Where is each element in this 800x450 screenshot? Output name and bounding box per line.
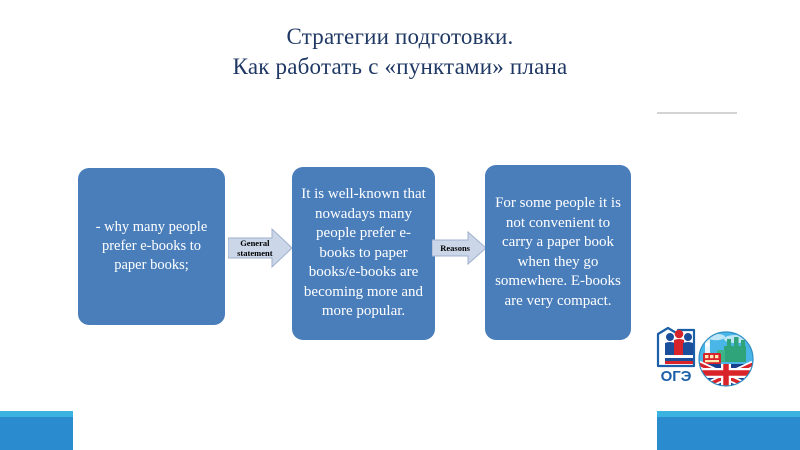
connector-general-statement: General statement — [228, 227, 292, 269]
flow-box-general-statement: It is well-known that nowadays many peop… — [292, 167, 435, 340]
flow-box-plan-point: - why many people prefer e-books to pape… — [78, 168, 225, 325]
page-title: Стратегии подготовки. Как работать с «пу… — [120, 22, 680, 82]
oge-english-logo: ОГЭ — [648, 326, 756, 392]
oge-english-logo-icon: ОГЭ — [648, 326, 756, 392]
slide: Стратегии подготовки. Как работать с «пу… — [0, 0, 800, 450]
decorative-rule — [657, 112, 737, 114]
flow-box-reasons: For some people it is not convenient to … — [485, 165, 631, 340]
arrow-right-icon — [432, 230, 486, 266]
arrow-right-icon — [228, 227, 292, 269]
flow-box-plan-point-text: - why many people prefer e-books to pape… — [85, 218, 218, 275]
footer-notch — [73, 411, 657, 450]
connector-reasons: Reasons — [432, 230, 486, 266]
flow-box-reasons-text: For some people it is not convenient to … — [492, 194, 624, 311]
oge-logo-text: ОГЭ — [661, 368, 692, 385]
flow-box-general-statement-text: It is well-known that nowadays many peop… — [299, 185, 428, 322]
